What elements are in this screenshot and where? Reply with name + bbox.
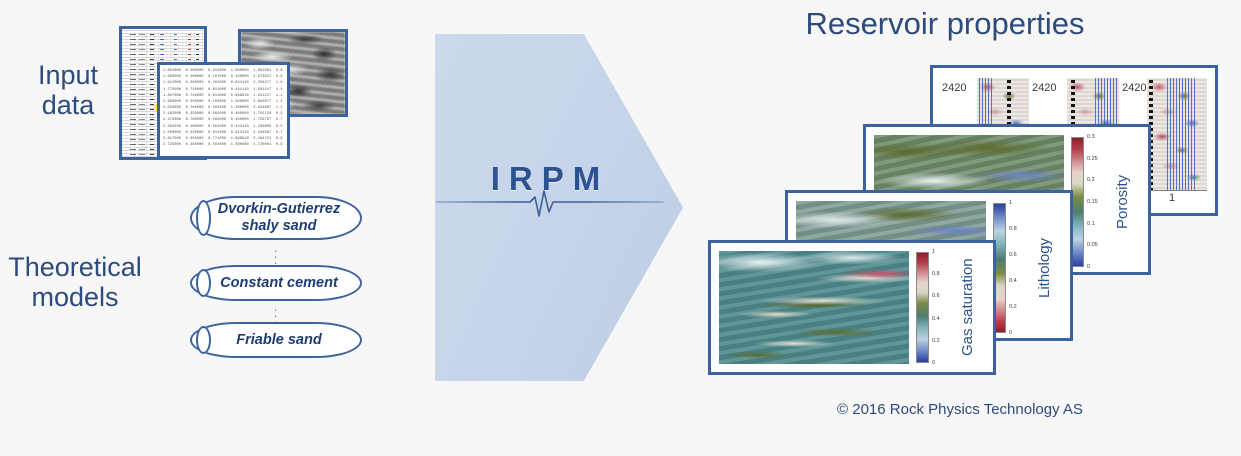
model-cylinder-constant-cement[interactable]: Constant cement xyxy=(190,265,362,301)
model-separator-ellipsis: ... xyxy=(190,304,362,322)
colorbar-tick-label: 0.25 xyxy=(1087,156,1098,162)
log-dot-column xyxy=(139,31,145,155)
colorbar-tick-label: 0.2 xyxy=(932,338,940,344)
colorbar-tick-label: 0.6 xyxy=(1009,252,1017,258)
model-cylinder-dvorkin-gutierrez[interactable]: Dvorkin-Gutierrezshaly sand xyxy=(190,196,362,240)
colorbar-tick-label: 0.6 xyxy=(932,293,940,299)
colorbar-tick-label: 0.15 xyxy=(1087,199,1098,205)
colorbar-tick-label: 0.05 xyxy=(1087,242,1098,248)
colorbar-gradient xyxy=(916,252,929,363)
model-cylinder-friable-sand[interactable]: Friable sand xyxy=(190,322,362,358)
colorbar-tick-label: 0.2 xyxy=(1087,177,1095,183)
colorbar-ticks: 0.30.250.20.150.10.050 xyxy=(1087,137,1113,267)
page-title: Reservoir properties xyxy=(760,6,1130,42)
colorbar-tick-label: 0.3 xyxy=(1087,134,1095,140)
model-label: Dvorkin-Gutierrezshaly sand xyxy=(206,201,346,234)
depth-label: 2420 xyxy=(1031,82,1057,94)
input-data-label: Inputdata xyxy=(4,60,132,120)
colorbar-tick-label: 0.2 xyxy=(1009,304,1017,310)
colorbar-tick-label: 0 xyxy=(932,360,935,366)
model-label: Constant cement xyxy=(208,275,344,292)
colorbar-title: Porosity xyxy=(1114,137,1131,267)
diagram-canvas: Inputdata 1.861000 0.280000 0.913000 1.0… xyxy=(0,0,1241,456)
theoretical-models-label: Theoreticalmodels xyxy=(0,252,150,312)
log-dot-column xyxy=(130,31,136,155)
colorbar-title: Gas saturation xyxy=(959,252,976,363)
colorbar-tick-label: 0 xyxy=(1009,330,1012,336)
colorbar-tick-label: 0.8 xyxy=(932,271,940,277)
colorbar-tick-label: 0.4 xyxy=(932,316,940,322)
table-row: 1.775000 0.710000 0.611000 0.441110 1.20… xyxy=(163,87,285,93)
lithology-colorbar: 10.80.60.40.20 Lithology xyxy=(993,203,1053,333)
table-row: 1.807000 0.710000 0.611000 0.899910 1.24… xyxy=(163,93,285,99)
depth-label: 2420 xyxy=(1121,82,1147,94)
panel-gas-saturation[interactable]: 10.80.60.40.20 Gas saturation xyxy=(708,240,996,375)
copyright-notice: © 2016 Rock Physics Technology AS xyxy=(760,401,1160,418)
table-row: 2.275000 0.760000 0.502000 0.300000 1.75… xyxy=(163,117,285,123)
colorbar-tick-label: 0 xyxy=(1087,264,1090,270)
colorbar-tick-label: 0.1 xyxy=(1087,221,1095,227)
colorbar-tick-label: 0.8 xyxy=(1009,226,1017,232)
model-label: Friable sand xyxy=(224,332,327,349)
irpm-logo: IRPM xyxy=(455,160,645,222)
gas-saturation-colorbar: 10.80.60.40.20 Gas saturation xyxy=(916,252,976,363)
table-row: 2.725000 0.380000 0.502000 1.300000 1.72… xyxy=(163,142,285,148)
table-row: 1.912000 0.260000 0.761000 0.844110 1.25… xyxy=(163,80,285,86)
model-separator-ellipsis: ... xyxy=(190,245,362,263)
porosity-colorbar: 0.30.250.20.150.10.050 Porosity xyxy=(1071,137,1131,267)
colorbar-tick-label: 1 xyxy=(1009,200,1012,206)
data-table-rows: 1.861000 0.280000 0.913000 1.000000 1.09… xyxy=(160,65,287,156)
log-blue-bars xyxy=(1167,78,1197,191)
colorbar-ticks: 10.80.60.40.20 xyxy=(932,252,958,363)
table-row: 2.500000 0.320000 0.911000 0.914110 2.10… xyxy=(163,130,285,136)
colorbar-tick-label: 0.4 xyxy=(1009,278,1017,284)
seismic-wave-icon xyxy=(435,190,665,224)
colorbar-ticks: 10.80.60.40.20 xyxy=(1009,203,1035,333)
log-dot-column xyxy=(150,31,154,155)
axis-tick-label: 1 xyxy=(1169,192,1175,204)
colorbar-tick-label: 1 xyxy=(932,249,935,255)
numeric-data-table-image: 1.861000 0.280000 0.913000 1.000000 1.09… xyxy=(157,62,290,159)
depth-label: 2420 xyxy=(941,82,967,94)
colorbar-title: Lithology xyxy=(1036,203,1053,333)
table-row: 2.361500 0.260000 0.561000 0.444110 1.23… xyxy=(163,124,285,130)
gas-saturation-seismic-section xyxy=(719,251,909,364)
